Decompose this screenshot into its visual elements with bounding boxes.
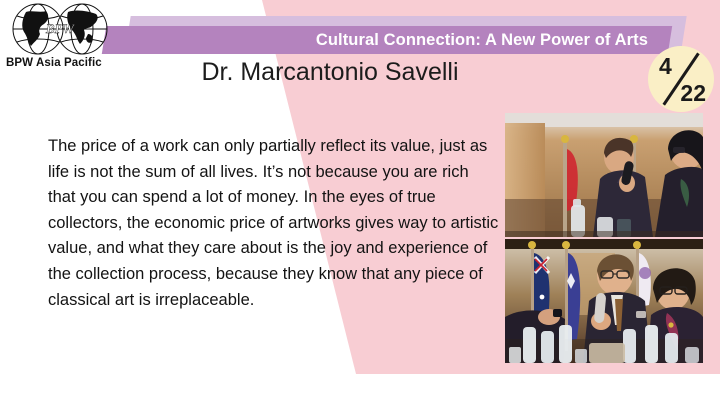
page-number-badge: 4 22: [648, 46, 714, 112]
logo-caption: BPW Asia Pacific: [4, 57, 122, 69]
bpw-twin-globes-icon: BPW: [4, 2, 116, 56]
slide-body-text: The price of a work can only partially r…: [48, 134, 500, 313]
page-number-current: 4: [659, 53, 672, 80]
photo-speaker-with-microphone-top: [505, 113, 703, 237]
page-number-total: 22: [680, 80, 706, 107]
photo-panel-discussion-bottom: [505, 239, 703, 363]
svg-text:BPW: BPW: [45, 21, 76, 36]
presentation-slide: BPW BPW Asia Pacific Cultural Connection…: [0, 0, 720, 405]
header-banner-title: Cultural Connection: A New Power of Arts: [104, 26, 670, 54]
brand-logo: BPW BPW Asia Pacific: [4, 2, 122, 69]
slide-title: Dr. Marcantonio Savelli: [120, 58, 540, 87]
